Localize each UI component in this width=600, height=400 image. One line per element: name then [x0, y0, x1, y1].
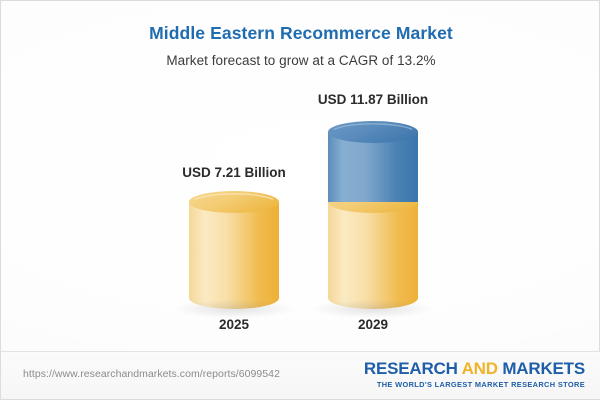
data-label-2025: USD 7.21 Billion [144, 165, 324, 180]
logo-and-text: AND [462, 359, 503, 378]
bar-group-2025: USD 7.21 Billion [189, 121, 279, 311]
cylinder-2025[interactable] [189, 191, 279, 309]
logo-markets-text: MARKETS [502, 359, 585, 378]
cylinder-2029-blue-segment [328, 132, 418, 213]
x-axis-label-2029: 2029 [283, 317, 463, 332]
logo-wordmark: RESEARCH AND MARKETS [364, 360, 585, 378]
research-and-markets-logo[interactable]: RESEARCH AND MARKETS THE WORLD'S LARGEST… [364, 360, 585, 389]
cylinder-2029-yellow-segment [328, 202, 418, 309]
chart-footer: https://www.researchandmarkets.com/repor… [1, 351, 600, 399]
report-url[interactable]: https://www.researchandmarkets.com/repor… [23, 368, 280, 380]
cylinder-2029[interactable] [328, 121, 418, 309]
chart-plot-area: USD 7.21 Billion [1, 1, 600, 353]
data-label-2029: USD 11.87 Billion [283, 92, 463, 107]
logo-research-text: RESEARCH [364, 359, 462, 378]
bar-group-2029: USD 11.87 Billion [328, 121, 418, 311]
cylinder-2025-svg [189, 191, 279, 309]
logo-tagline: THE WORLD'S LARGEST MARKET RESEARCH STOR… [364, 380, 585, 389]
chart-card: Middle Eastern Recommerce Market Market … [0, 0, 600, 400]
cylinder-2029-svg [328, 121, 418, 309]
